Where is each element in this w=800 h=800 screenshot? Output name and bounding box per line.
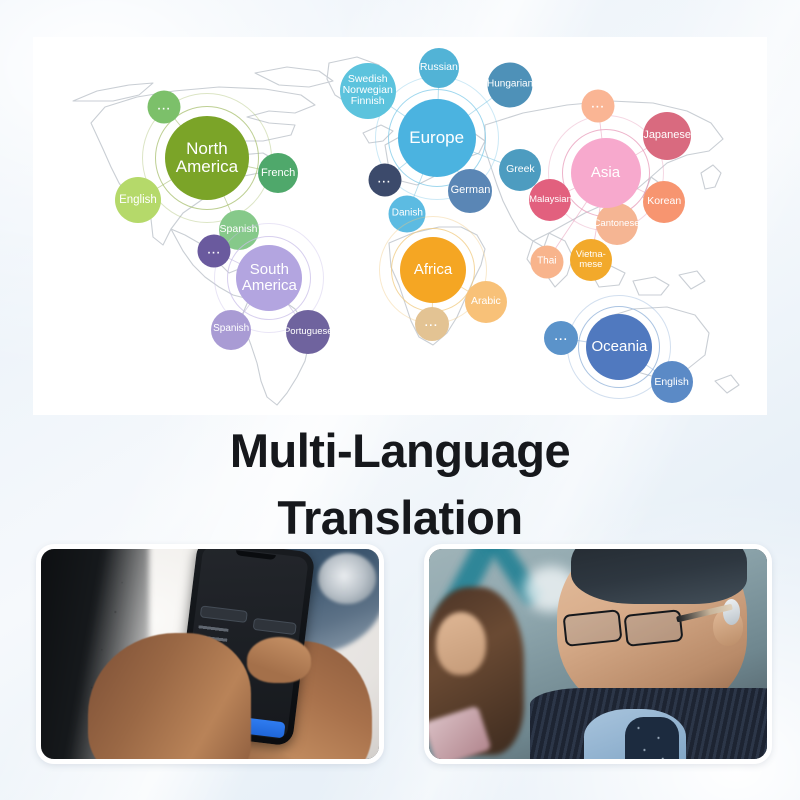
language-bubble-russian: Russian (419, 48, 459, 88)
region-bubble-oceania: Oceania (586, 314, 652, 380)
translation-earpiece (723, 599, 740, 624)
title-line-1: Multi-Language (230, 424, 570, 477)
language-bubble-german: German (448, 169, 492, 213)
language-bubble-vietna-mese: Vietna- mese (570, 239, 612, 281)
language-bubble-more: ... (148, 90, 181, 123)
language-bubble-english: English (651, 361, 693, 403)
language-bubble-portuguese: Portuguese (286, 310, 330, 354)
region-bubble-north-america: North America (165, 116, 249, 200)
photo-phone-translation-app (36, 544, 384, 764)
language-bubble-korean: Korean (643, 181, 685, 223)
language-bubble-more: ... (544, 321, 578, 355)
language-bubble-thai: Thai (530, 245, 563, 278)
world-map-panel: ...EnglishFrenchSpanishNorth AmericaSwed… (33, 37, 767, 415)
language-bubble-swedish-norwegian-finnish: Swedish Norwegian Finnish (340, 63, 396, 119)
language-bubble-arabic: Arabic (465, 281, 507, 323)
page-title: Multi-Language Translation (0, 418, 800, 551)
language-bubble-more: ... (582, 89, 615, 122)
region-bubble-asia: Asia (571, 138, 641, 208)
region-bubble-africa: Africa (400, 237, 466, 303)
language-bubble-more: ... (198, 235, 231, 268)
language-bubble-more: ... (415, 307, 449, 341)
language-bubble-more: ... (368, 163, 401, 196)
language-bubble-clusters: ...EnglishFrenchSpanishNorth AmericaSwed… (33, 37, 767, 415)
region-bubble-europe: Europe (398, 99, 476, 177)
language-bubble-french: French (258, 153, 298, 193)
photo-businessman-earpiece (424, 544, 772, 764)
region-bubble-south-america: South America (236, 245, 302, 311)
language-bubble-japanese: Japanese (643, 112, 691, 160)
language-bubble-hungarian: Hungarian (488, 62, 533, 107)
language-bubble-english: English (115, 177, 161, 223)
language-bubble-spanish: Spanish (211, 310, 251, 350)
title-line-2: Translation (0, 485, 800, 552)
language-bubble-malaysian: Malaysian (529, 179, 571, 221)
product-infographic: ...EnglishFrenchSpanishNorth AmericaSwed… (0, 0, 800, 800)
language-bubble-cantonese: Cantonese (596, 203, 638, 245)
